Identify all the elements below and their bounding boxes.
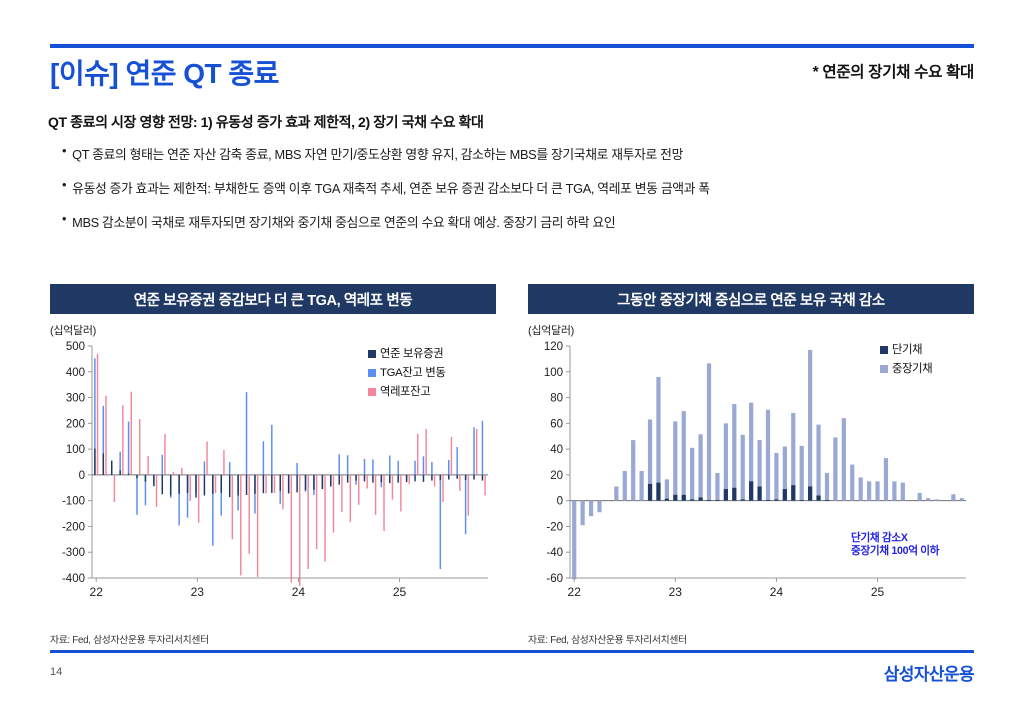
y-axis-tick-label: 120 [544,341,563,353]
list-item: • 유동성 증가 효과는 제한적: 부채한도 증액 이후 TGA 재축적 추세,… [62,178,1002,197]
bullet-text: QT 종료의 형태는 연준 자산 감축 종료, MBS 자연 만기/중도상환 영… [72,144,683,163]
bar-1 [338,454,339,475]
bar-2 [425,429,426,475]
bar-2 [358,475,359,505]
bar-short [757,486,761,500]
bar-1 [347,455,348,475]
y-axis-tick-label: 400 [66,367,85,379]
bar-medium-long [842,418,846,500]
bar-2 [366,475,367,489]
bar-medium-long [623,471,627,501]
bar-2 [307,475,308,569]
bar-0 [229,475,230,497]
bar-short [749,481,753,500]
bar-1 [271,425,272,475]
bar-2 [147,456,148,475]
x-axis-tick-label: 25 [871,585,885,599]
bar-medium-long [665,479,669,500]
bar-medium-long [766,410,770,501]
bar-0 [364,475,365,481]
bar-2 [189,475,190,501]
bar-medium-long [825,473,829,501]
y-axis-tick-label: 80 [550,393,563,405]
bar-0 [381,475,382,482]
bar-2 [324,475,325,562]
bar-0 [330,475,331,487]
footer-rule [50,650,974,653]
bar-2 [299,475,300,586]
bar-0 [195,475,196,498]
bar-0 [145,475,146,482]
bar-medium-long [951,494,955,500]
bar-2 [375,475,376,515]
bar-2 [248,475,249,554]
bar-0 [94,449,95,475]
bar-medium-long [640,471,644,501]
bar-medium-long [707,363,711,500]
bar-short [800,500,804,501]
bar-0 [246,475,247,495]
bar-medium-long [572,501,576,580]
chart-right-legend: 단기채 중장기채 [880,342,932,380]
bar-0 [473,475,474,480]
bar-0 [305,475,306,490]
bar-medium-long [741,435,745,501]
bar-short [774,499,778,500]
header-top-rule [50,44,974,48]
bar-0 [204,475,205,496]
legend-item: 연준 보유증권 [368,346,446,362]
bar-0 [288,475,289,494]
chart-left-source: 자료: Fed, 삼성자산운용 투자리서치센터 [50,632,209,646]
bar-short [816,496,820,501]
bar-medium-long [715,473,719,501]
bar-0 [456,475,457,479]
bar-0 [322,475,323,489]
bar-medium-long [808,350,812,501]
y-axis-tick-label: -40 [546,547,563,559]
bar-0 [448,475,449,480]
bar-medium-long [816,425,820,501]
bar-2 [476,429,477,475]
legend-label: 중장기채 [892,361,932,377]
bar-0 [187,475,188,493]
bar-1 [465,475,466,534]
x-axis-tick-label: 22 [568,585,582,599]
bar-short [648,484,652,501]
bar-2 [198,475,199,523]
bar-0 [355,475,356,481]
bullet-list: • QT 종료의 형태는 연준 자산 감축 종료, MBS 자연 만기/중도상환… [62,144,1002,246]
chart-panel-left: 연준 보유증권 증감보다 더 큰 TGA, 역레포 변동 (십억달러) -400… [50,284,496,642]
page-title: [이슈] 연준 QT 종료 [50,52,279,92]
bar-2 [442,475,443,502]
y-axis-tick-label: 60 [550,418,563,430]
bar-0 [465,475,466,480]
legend-label: 단기채 [892,342,922,358]
y-axis-tick-label: -400 [62,573,85,585]
bar-0 [263,475,264,493]
chart-right-source: 자료: Fed, 삼성자산운용 투자리서치센터 [528,632,687,646]
x-axis-tick-label: 25 [393,585,407,599]
bar-2 [122,405,123,475]
chart-right-unit-label: (십억달러) [528,322,574,338]
bar-medium-long [892,481,896,500]
bar-short [715,500,719,501]
bar-2 [333,475,334,533]
bar-medium-long [800,446,804,501]
bar-medium-long [901,483,905,501]
bar-medium-long [656,377,660,501]
bar-0 [423,475,424,482]
bar-2 [468,475,469,516]
legend-item: 중장기채 [880,361,932,377]
bar-medium-long [631,440,635,501]
chart-right-annotation: 단기채 감소X 중장기채 100억 이하 [851,532,939,558]
bar-2 [265,475,266,494]
bar-1 [448,460,449,475]
bar-0 [414,475,415,481]
bar-2 [240,475,241,576]
x-axis-tick-label: 22 [90,585,104,599]
bullet-text: MBS 감소분이 국채로 재투자되면 장기채와 중기채 중심으로 연준의 수요 … [72,212,615,231]
bar-short [673,495,677,501]
bar-2 [383,475,384,531]
bar-short [724,489,728,501]
bar-2 [316,475,317,549]
legend-item: TGA잔고 변동 [368,365,446,381]
bar-0 [389,475,390,483]
y-axis-tick-label: -300 [62,547,85,559]
bar-2 [392,475,393,500]
bar-0 [338,475,339,485]
bar-short [707,500,711,501]
list-item: • QT 종료의 형태는 연준 자산 감축 종료, MBS 자연 만기/중도상환… [62,144,1002,163]
bar-0 [397,475,398,483]
bar-medium-long [884,458,888,501]
y-axis-tick-label: 300 [66,393,85,405]
y-axis-tick-label: -20 [546,521,563,533]
bar-2 [131,392,132,475]
bar-1 [229,462,230,475]
bar-2 [114,475,115,502]
bar-short [741,499,745,500]
y-axis-tick-label: 40 [550,444,563,456]
bar-0 [237,475,238,496]
bar-medium-long [589,501,593,516]
y-axis-tick-label: -60 [546,573,563,585]
bar-0 [162,475,163,494]
chart-right-title: 그동안 중장기채 중심으로 연준 보유 국채 감소 [528,284,974,314]
bar-0 [296,475,297,493]
bar-2 [274,475,275,493]
bar-2 [484,475,485,496]
bar-2 [105,396,106,475]
bar-2 [257,475,258,577]
bar-1 [204,461,205,474]
bar-1 [473,427,474,475]
bar-2 [417,434,418,475]
bar-0 [271,475,272,493]
bar-2 [173,472,174,475]
bar-0 [111,461,112,475]
bar-medium-long [934,499,938,500]
legend-swatch-icon [368,369,376,377]
x-axis-tick-label: 23 [669,585,683,599]
bar-1 [423,456,424,475]
bar-0 [221,475,222,493]
y-axis-tick-label: -100 [62,496,85,508]
x-axis-tick-label: 24 [770,585,784,599]
chart-left-legend: 연준 보유증권 TGA잔고 변동 역레포잔고 [368,346,446,403]
bar-medium-long [926,498,930,501]
legend-swatch-icon [880,346,888,354]
bar-1 [397,461,398,475]
bar-1 [372,459,373,474]
bar-short [791,485,795,500]
bar-medium-long [614,486,618,500]
bar-0 [406,475,407,482]
bar-1 [431,462,432,475]
bar-1 [364,459,365,475]
bullet-marker-icon: • [62,145,66,158]
bar-medium-long [867,481,871,500]
bar-short [690,499,694,500]
bar-2 [215,475,216,493]
bar-short [783,489,787,501]
bar-medium-long [698,434,702,500]
bar-2 [341,475,342,512]
bar-medium-long [859,477,863,500]
bar-2 [156,475,157,507]
bar-short [656,483,660,501]
legend-swatch-icon [368,350,376,358]
annotation-line-2: 중장기채 100억 이하 [851,545,939,558]
chart-right-plot: -60-40-2002040608010012022232425 [528,340,974,608]
bar-medium-long [682,411,686,501]
bar-1 [482,421,483,475]
bar-2 [400,475,401,512]
bar-2 [434,475,435,487]
bar-1 [128,422,129,475]
bar-medium-long [581,501,585,525]
annotation-line-1: 단기채 감소X [851,532,939,545]
bar-medium-long [918,493,922,501]
page-subtitle: * 연준의 장기채 수요 확대 [813,60,974,82]
bar-2 [459,475,460,491]
chart-panel-right: 그동안 중장기채 중심으로 연준 보유 국채 감소 (십억달러) -60-40-… [528,284,974,642]
bar-2 [164,434,165,475]
bar-1 [263,441,264,475]
legend-item: 단기채 [880,342,932,358]
bar-0 [119,470,120,475]
bar-medium-long [960,498,964,501]
bar-0 [136,475,137,478]
bullet-marker-icon: • [62,213,66,226]
bar-medium-long [850,465,854,501]
bar-1 [162,455,163,475]
bar-2 [291,475,292,583]
bar-0 [372,475,373,483]
bar-0 [128,474,129,475]
bar-short [732,488,736,501]
bar-short [825,500,829,501]
bar-0 [347,475,348,483]
bar-2 [232,475,233,539]
bar-medium-long [597,501,601,513]
bar-2 [350,475,351,522]
bar-medium-long [673,421,677,500]
y-axis-tick-label: 500 [66,341,85,353]
chart-right-svg: -60-40-2002040608010012022232425 [528,340,974,608]
lede-line: QT 종료의 시장 영향 전망: 1) 유동성 증가 효과 제한적, 2) 장기… [48,112,484,132]
bar-1 [440,475,441,569]
bar-1 [296,463,297,475]
bar-medium-long [833,438,837,501]
bar-medium-long [732,404,736,501]
bar-0 [103,453,104,474]
bar-short [808,486,812,500]
bullet-text: 유동성 증가 효과는 제한적: 부채한도 증액 이후 TGA 재축적 추세, 연… [72,178,710,197]
bar-1 [414,461,415,475]
bar-0 [313,475,314,490]
bar-0 [212,475,213,494]
bar-0 [153,475,154,486]
brand-logo: 삼성자산운용 [884,660,974,685]
bar-2 [223,450,224,475]
bar-short [665,499,669,501]
bar-1 [246,392,247,475]
bar-medium-long [875,481,879,500]
chart-left-title: 연준 보유증권 증감보다 더 큰 TGA, 역레포 변동 [50,284,496,314]
slide-page: [이슈] 연준 QT 종료 * 연준의 장기채 수요 확대 QT 종료의 시장 … [0,0,1024,709]
x-axis-tick-label: 23 [191,585,205,599]
bar-medium-long [690,448,694,501]
bar-medium-long [774,453,778,501]
y-axis-tick-label: 200 [66,418,85,430]
bar-2 [282,475,283,509]
bar-2 [451,437,452,475]
y-axis-tick-label: 100 [66,444,85,456]
bar-0 [178,475,179,494]
bar-0 [440,475,441,480]
bar-1 [136,475,137,515]
bar-1 [389,456,390,475]
bar-0 [431,475,432,481]
bullet-marker-icon: • [62,179,66,192]
chart-left-unit-label: (십억달러) [50,322,96,338]
legend-item: 역레포잔고 [368,384,446,400]
legend-label: 역레포잔고 [380,384,430,400]
bar-2 [206,442,207,475]
y-axis-tick-label: 0 [79,470,85,482]
legend-swatch-icon [368,388,376,396]
y-axis-tick-label: -200 [62,521,85,533]
bar-2 [139,419,140,475]
bar-2 [181,468,182,475]
bar-2 [409,475,410,484]
bar-0 [482,475,483,481]
x-axis-tick-label: 24 [292,585,306,599]
bar-2 [97,354,98,475]
y-axis-tick-label: 100 [544,367,563,379]
y-axis-tick-label: 0 [557,496,563,508]
bar-short [682,495,686,501]
legend-swatch-icon [880,365,888,373]
bar-short [766,500,770,501]
bar-short [698,497,702,500]
page-number: 14 [50,666,62,678]
bar-0 [280,475,281,491]
list-item: • MBS 감소분이 국채로 재투자되면 장기채와 중기채 중심으로 연준의 수… [62,212,1002,231]
legend-label: TGA잔고 변동 [380,365,446,381]
bar-0 [170,475,171,496]
legend-label: 연준 보유증권 [380,346,443,362]
y-axis-tick-label: 20 [550,470,563,482]
bar-1 [456,447,457,475]
bar-0 [254,475,255,494]
